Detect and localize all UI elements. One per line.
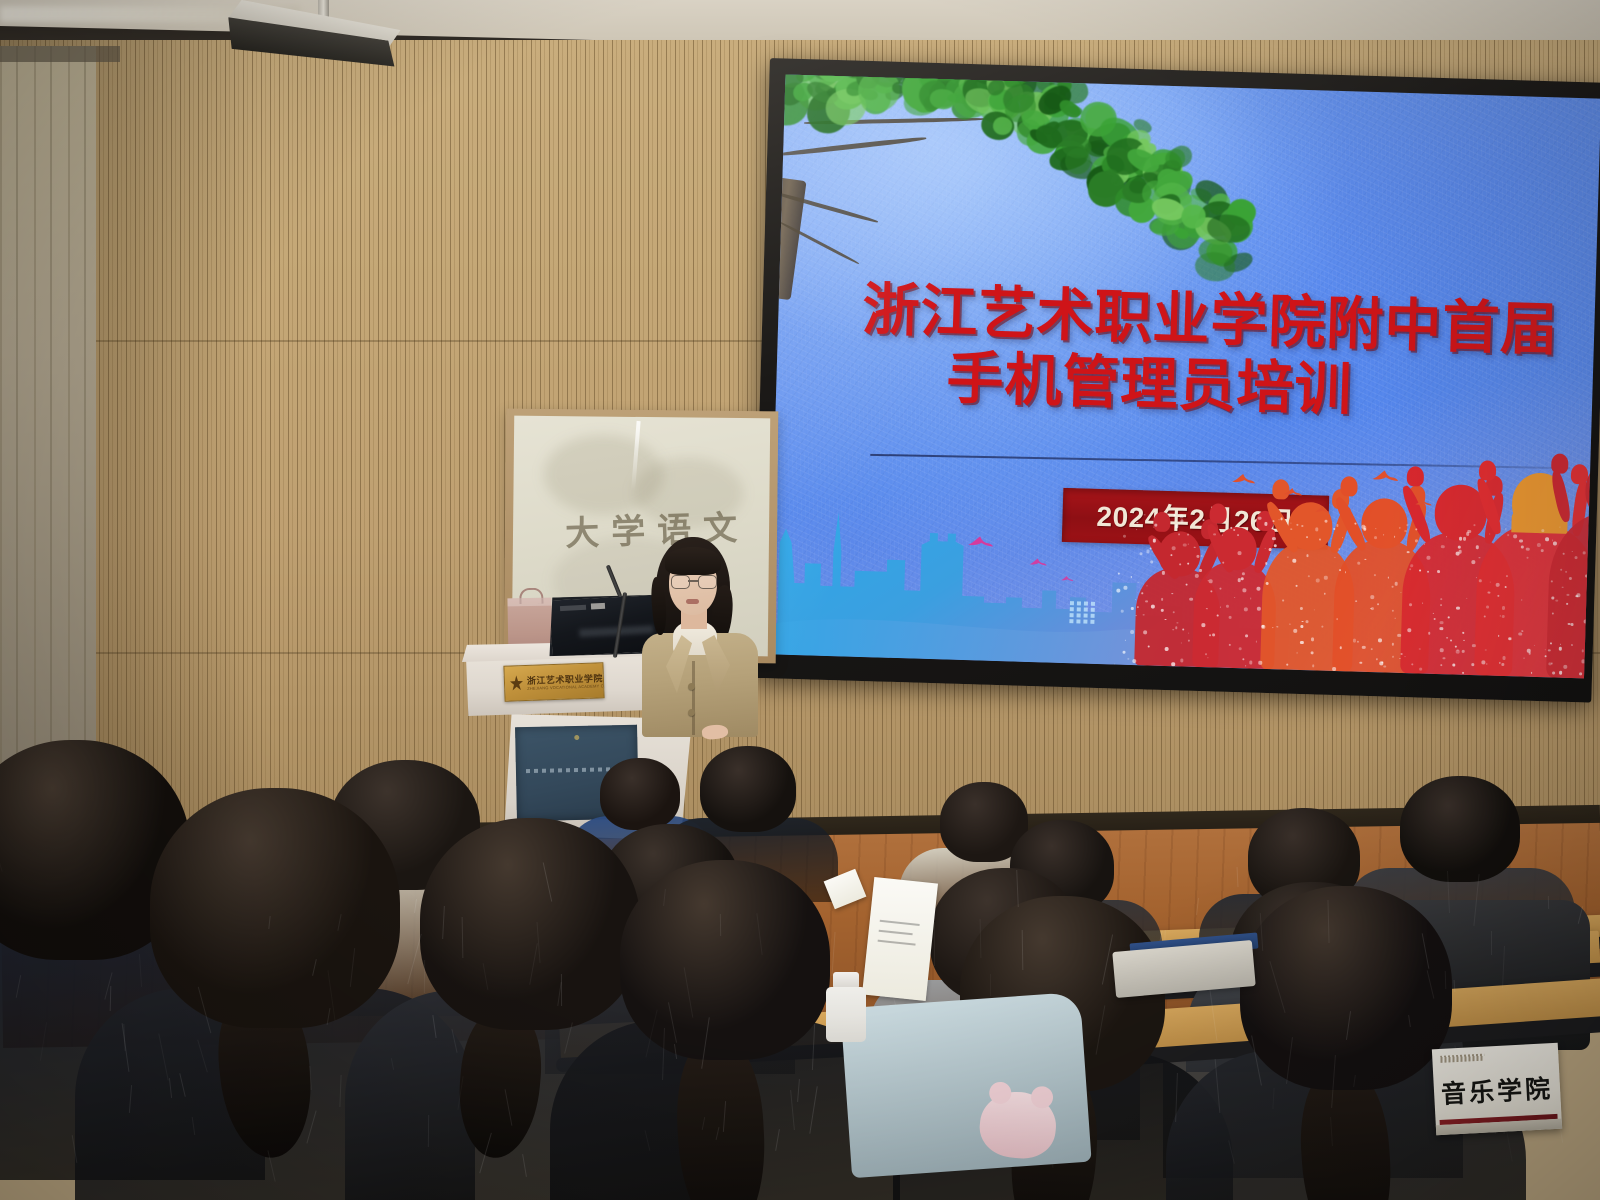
crowd-speckle (1370, 608, 1371, 609)
crowd-speckle (1146, 550, 1150, 554)
crowd-speckle (1322, 625, 1324, 627)
college-logo-icon (510, 675, 524, 690)
crowd-speckle (1294, 629, 1298, 633)
crowd-speckle (1300, 625, 1303, 628)
crowd-speckle (1268, 548, 1271, 551)
crowd-speckle (1324, 576, 1327, 579)
crowd-speckle (1508, 535, 1509, 536)
screen-content: 浙江艺术职业学院附中首届 手机管理员培训 2024年2月26日 (768, 74, 1600, 678)
crowd-speckle (1558, 646, 1562, 650)
crowd-speckle (1336, 618, 1338, 620)
crowd-speckle (1259, 661, 1262, 664)
crowd-speckle (1481, 660, 1485, 664)
crowd-speckle (1287, 664, 1289, 666)
crowd-speckle (1473, 524, 1475, 526)
bird-icon (1415, 493, 1433, 511)
crowd-speckle (1407, 551, 1410, 554)
crowd-speckle (1332, 667, 1336, 671)
crowd-speckle (1131, 607, 1133, 609)
crowd-speckle (1518, 632, 1521, 635)
crowd-speckle (1212, 633, 1215, 636)
crowd-speckle (1300, 641, 1304, 645)
crowd-speckle (1441, 545, 1445, 549)
crowd-speckle (1220, 606, 1221, 607)
crowd-speckle (1359, 661, 1362, 664)
crowd-speckle (1336, 524, 1339, 527)
crowd-speckle (1509, 637, 1512, 640)
crowd-speckle (1324, 593, 1325, 594)
crowd-speckle (1537, 543, 1541, 547)
crowd-speckle (1506, 575, 1508, 577)
crowd-speckle (1334, 528, 1336, 530)
crowd-speckle (1397, 634, 1400, 637)
crowd-person-hand (1210, 503, 1228, 523)
audience (0, 700, 1600, 1200)
crowd-speckle (1310, 638, 1314, 642)
crowd-speckle (1180, 659, 1184, 663)
crowd-speckle (1123, 534, 1127, 538)
crowd-speckle (1440, 648, 1444, 652)
crowd-speckle (1282, 600, 1284, 602)
crowd-speckle (1471, 560, 1475, 564)
crowd-speckle (1220, 587, 1222, 589)
crowd-silhouette-graphic (1114, 455, 1600, 679)
audience-head (150, 788, 400, 1028)
hair-strand (109, 986, 111, 1011)
crowd-person-arm (1474, 477, 1504, 536)
crowd-speckle (1132, 659, 1136, 663)
crowd-speckle (1392, 586, 1394, 588)
crowd-person-hand (1340, 476, 1358, 496)
crowd-speckle (1173, 515, 1175, 517)
bird-icon (1372, 468, 1400, 489)
crowd-speckle (1392, 656, 1394, 658)
crowd-speckle (1307, 575, 1309, 577)
crowd-speckle (1440, 627, 1443, 630)
crowd-speckle (1136, 529, 1137, 530)
crowd-speckle (1526, 548, 1530, 552)
crowd-speckle (1209, 579, 1213, 583)
crowd-speckle (1544, 649, 1545, 650)
crowd-speckle (1472, 663, 1474, 665)
crowd-speckle (1244, 607, 1248, 611)
crowd-speckle (1213, 533, 1215, 535)
crowd-speckle (1237, 579, 1240, 582)
crowd-speckle (1440, 598, 1442, 600)
lecture-hall-photo: 浙江艺术职业学院附中首届 手机管理员培训 2024年2月26日 大学语文 (0, 0, 1600, 1200)
crowd-speckle (1121, 610, 1124, 613)
crowd-speckle (1394, 618, 1395, 619)
led-screen: 浙江艺术职业学院附中首届 手机管理员培训 2024年2月26日 (752, 58, 1600, 703)
crowd-speckle (1183, 543, 1187, 547)
crowd-speckle (1370, 595, 1374, 599)
hair-strand (934, 922, 935, 966)
crowd-speckle (1559, 643, 1560, 644)
crowd-person-arm (1550, 470, 1573, 523)
crowd-speckle (1378, 639, 1382, 643)
bird-icon (1060, 569, 1074, 587)
crowd-speckle (1194, 546, 1196, 548)
crowd-speckle (1443, 657, 1446, 660)
crowd-speckle (1148, 645, 1150, 647)
crowd-person-hand (1153, 512, 1171, 532)
crowd-speckle (1319, 538, 1321, 540)
crowd-speckle (1257, 606, 1261, 610)
crowd-speckle (1175, 524, 1179, 528)
crowd-speckle (1559, 671, 1562, 674)
crowd-speckle (1143, 630, 1147, 634)
crowd-speckle (1117, 589, 1121, 593)
hair-strand (1196, 898, 1199, 915)
crowd-speckle (1433, 618, 1435, 620)
crowd-speckle (1462, 632, 1464, 634)
crowd-speckle (1228, 616, 1231, 619)
crowd-speckle (1233, 529, 1235, 531)
crowd-speckle (1374, 574, 1375, 575)
bird-icon (1283, 483, 1303, 502)
crowd-speckle (1563, 665, 1567, 669)
crowd-speckle (1395, 582, 1398, 585)
eyeglasses-icon (671, 575, 715, 587)
crowd-speckle (1579, 673, 1582, 676)
crowd-speckle (1560, 569, 1562, 571)
crowd-speckle (1577, 594, 1580, 597)
crowd-speckle (1122, 650, 1125, 653)
hair-strand (832, 932, 836, 976)
namecard-text: 音乐学院 (1433, 1069, 1561, 1112)
crowd-speckle (1534, 645, 1535, 646)
crowd-speckle (1206, 608, 1207, 609)
bird-icon (1029, 554, 1048, 573)
crowd-speckle (1583, 552, 1585, 554)
crowd-speckle (1277, 626, 1279, 628)
crowd-speckle (1136, 606, 1138, 608)
crowd-speckle (1151, 551, 1153, 553)
crowd-speckle (1548, 649, 1550, 651)
crowd-speckle (1379, 662, 1383, 666)
crowd-speckle (1265, 582, 1268, 585)
crowd-speckle (1448, 616, 1450, 618)
crowd-speckle (1409, 604, 1412, 607)
crowd-speckle (1144, 514, 1146, 516)
crowd-speckle (1217, 615, 1219, 617)
crowd-person-hand (1551, 454, 1569, 474)
crowd-speckle (1238, 551, 1242, 555)
crowd-speckle (1504, 586, 1506, 588)
crowd-speckle (1296, 585, 1298, 587)
crowd-speckle (1316, 578, 1320, 582)
crowd-speckle (1499, 662, 1500, 663)
crowd-speckle (1287, 556, 1288, 557)
crowd-speckle (1151, 561, 1153, 563)
audience-head (1400, 776, 1520, 882)
presenter-bangs (665, 547, 721, 575)
crowd-speckle (1567, 603, 1569, 605)
crowd-speckle (1314, 609, 1315, 610)
crowd-speckle (1440, 664, 1442, 666)
crowd-speckle (1272, 537, 1275, 540)
crowd-speckle (1182, 628, 1184, 630)
crowd-speckle (1118, 573, 1120, 575)
crowd-speckle (1130, 630, 1134, 634)
crowd-speckle (1302, 525, 1303, 526)
crowd-speckle (1141, 592, 1143, 594)
crowd-speckle (1456, 606, 1460, 610)
crowd-speckle (1209, 634, 1211, 636)
crowd-speckle (1245, 635, 1248, 638)
crowd-speckle (1427, 556, 1431, 560)
crowd-speckle (1242, 588, 1246, 592)
audience-head (700, 746, 796, 832)
crowd-speckle (1172, 662, 1176, 666)
bird-icon (1315, 500, 1331, 518)
water-bottle (826, 972, 866, 1042)
crowd-speckle (1292, 559, 1296, 563)
crowd-speckle (1130, 576, 1132, 578)
crowd-speckle (1145, 600, 1148, 603)
crowd-speckle (1462, 672, 1464, 674)
crowd-speckle (1406, 524, 1408, 526)
crowd-speckle (1137, 522, 1138, 523)
crowd-speckle (1513, 534, 1517, 538)
crowd-speckle (1574, 556, 1577, 559)
crowd-speckle (1187, 533, 1189, 535)
crowd-speckle (1128, 658, 1130, 660)
tote-bag (840, 992, 1091, 1178)
tree-branch (777, 136, 927, 157)
crowd-speckle (1501, 614, 1504, 617)
crowd-speckle (1175, 626, 1177, 628)
slide-title: 浙江艺术职业学院附中首届 手机管理员培训 (860, 277, 1600, 432)
crowd-speckle (1171, 546, 1175, 550)
crowd-speckle (1411, 663, 1413, 665)
crowd-speckle (1334, 557, 1335, 558)
audience-head (420, 818, 640, 1030)
crowd-speckle (1124, 639, 1126, 641)
crowd-speckle (1199, 569, 1201, 571)
crowd-speckle (1155, 524, 1158, 527)
crowd-person-hand (1406, 466, 1424, 486)
crowd-speckle (1521, 599, 1522, 600)
crowd-person-hand (1479, 460, 1497, 480)
podium-plaque: 浙江艺术职业学院 ZHEJIANG VOCATIONAL ACADEMY OF … (503, 662, 604, 701)
crowd-speckle (1297, 524, 1299, 526)
crowd-speckle (1114, 663, 1115, 664)
crowd-speckle (1180, 519, 1183, 522)
crowd-speckle (1411, 564, 1414, 567)
crowd-speckle (1553, 541, 1557, 545)
tree-canopy-graphic (769, 74, 1246, 304)
crowd-speckle (1374, 536, 1377, 539)
crowd-speckle (1377, 603, 1379, 605)
crowd-speckle (1392, 609, 1394, 611)
curtain (0, 46, 96, 806)
crowd-speckle (1370, 648, 1372, 650)
crowd-speckle (1404, 656, 1405, 657)
crowd-speckle (1415, 539, 1418, 542)
crowd-speckle (1555, 599, 1557, 601)
bird-icon (1231, 472, 1256, 491)
hair-strand (1491, 931, 1492, 955)
audience-head (1240, 886, 1452, 1090)
crowd-speckle (1264, 522, 1267, 525)
crowd-speckle (1501, 606, 1505, 610)
crowd-speckle (1237, 534, 1239, 536)
crowd-speckle (1462, 650, 1465, 653)
crowd-speckle (1302, 621, 1303, 622)
crowd-speckle (1409, 568, 1411, 570)
crowd-speckle (1419, 668, 1422, 671)
crowd-speckle (1355, 523, 1357, 525)
crowd-speckle (1139, 552, 1142, 555)
hair-strand (561, 974, 562, 1006)
crowd-speckle (1202, 623, 1205, 626)
crowd-speckle (1352, 639, 1356, 643)
audience-head (600, 758, 680, 830)
crowd-speckle (1404, 530, 1407, 533)
crowd-speckle (1365, 558, 1367, 560)
namecard-logo-icon (1440, 1054, 1484, 1063)
crowd-speckle (1488, 591, 1490, 593)
paper-sheet (862, 877, 938, 1001)
crowd-speckle (1563, 553, 1565, 555)
crowd-speckle (1180, 514, 1184, 518)
hair-strand (1237, 867, 1239, 887)
curtain-rail (0, 46, 120, 62)
bird-icon (967, 534, 994, 554)
crowd-speckle (1210, 590, 1212, 592)
crowd-speckle (1124, 586, 1128, 590)
crowd-speckle (1519, 539, 1522, 542)
hair-strand (990, 974, 991, 996)
crowd-speckle (1401, 653, 1402, 654)
crowd-speckle (1496, 582, 1500, 586)
crowd-speckle (1551, 580, 1553, 582)
crowd-speckle (1407, 628, 1411, 632)
crowd-speckle (1306, 554, 1309, 557)
table-tent-namecard: 音乐学院 (1432, 1043, 1562, 1135)
crowd-speckle (1249, 661, 1252, 664)
crowd-speckle (1419, 570, 1421, 572)
crowd-speckle (1189, 597, 1193, 601)
